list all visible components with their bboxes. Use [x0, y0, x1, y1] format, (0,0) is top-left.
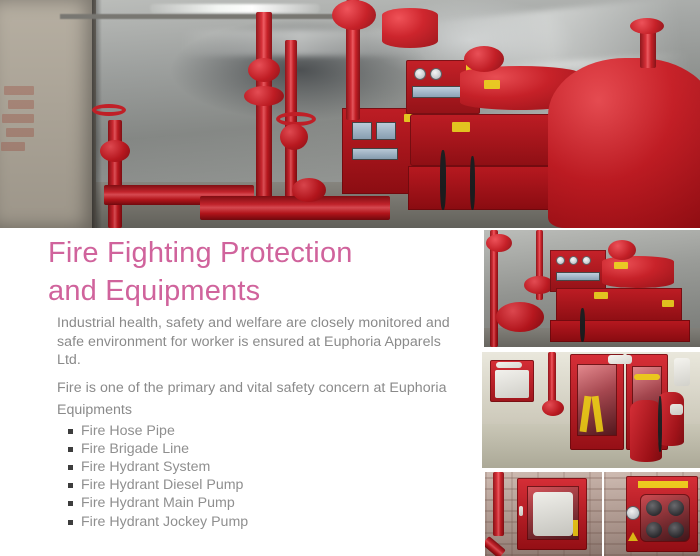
- engine-intake-cap: [464, 46, 504, 72]
- extinguisher-hose: [658, 396, 662, 452]
- cabinet-display: [376, 122, 396, 140]
- ceiling-conduit: [60, 14, 360, 19]
- engine-hose: [440, 150, 446, 210]
- pressure-gauge: [582, 256, 591, 265]
- red-vessel: [382, 8, 438, 48]
- pressure-gauge: [430, 68, 442, 80]
- equipments-heading: Equipments: [57, 401, 457, 420]
- warning-label: [484, 80, 500, 89]
- page-title: Fire Fighting Protection and Equipments: [48, 234, 468, 310]
- title-line-2: and Equipments: [48, 272, 468, 310]
- title-line-1: Fire Fighting Protection: [48, 234, 468, 272]
- wall-notice: [674, 358, 690, 386]
- warning-label: [452, 122, 470, 132]
- cabinet-display: [352, 122, 372, 140]
- body-copy: Industrial health, safety and welfare ar…: [57, 314, 457, 531]
- left-brick-wall: [0, 0, 96, 228]
- banner-scene: [0, 0, 700, 228]
- red-downpipe: [493, 472, 504, 536]
- fire-pump-room-banner-image: [0, 0, 700, 228]
- cabinet-sign: [608, 355, 632, 364]
- yellow-tool: [634, 374, 660, 380]
- red-valve-body: [542, 400, 564, 416]
- diesel-engine-block: [410, 114, 570, 166]
- red-flange: [244, 86, 284, 106]
- paragraph-industrial-health: Industrial health, safety and welfare ar…: [57, 314, 457, 370]
- cabinet-display: [352, 148, 398, 160]
- list-item: Fire Brigade Line: [57, 440, 457, 458]
- extinguisher-label: [670, 404, 683, 415]
- engine-base: [550, 320, 690, 342]
- list-item: Fire Hydrant Jockey Pump: [57, 513, 457, 531]
- fire-hose: [533, 492, 573, 536]
- pump-casing: [496, 302, 544, 332]
- cabinet-latch[interactable]: [519, 506, 523, 516]
- fire-equipment-cabinets-image: [482, 352, 700, 468]
- equipments-list: Fire Hose Pipe Fire Brigade Line Fire Hy…: [57, 422, 457, 531]
- inlet-connector: [668, 522, 684, 538]
- engine-intake-cap: [608, 240, 636, 260]
- inlet-connector: [668, 500, 684, 516]
- warning-label: [614, 262, 628, 269]
- red-fitting: [292, 178, 326, 202]
- valve-handwheel: [92, 104, 126, 116]
- list-item: Fire Hydrant System: [57, 458, 457, 476]
- paragraph-fire-concern: Fire is one of the primary and vital saf…: [57, 379, 457, 398]
- hose-reel: [495, 370, 529, 398]
- diesel-fire-pump-image: [484, 230, 700, 347]
- inlet-connector: [646, 522, 662, 538]
- slide-root: Fire Fighting Protection and Equipments …: [0, 0, 700, 556]
- fire-hose-cabinet-image: [485, 472, 602, 556]
- engine-hose: [470, 156, 475, 210]
- breeching-inlet-image: [604, 472, 700, 556]
- pressure-gauge: [569, 256, 578, 265]
- breeching-inlet-label: [638, 481, 688, 488]
- engine-hose: [580, 308, 585, 342]
- red-valve-body: [100, 140, 130, 162]
- pressure-gauge: [556, 256, 565, 265]
- panel-display: [556, 272, 600, 281]
- box-label: [496, 362, 522, 368]
- red-valve-body: [486, 234, 512, 252]
- list-item: Fire Hydrant Main Pump: [57, 494, 457, 512]
- pressure-tank: [548, 58, 700, 228]
- red-valve-body: [280, 124, 308, 150]
- red-pipe: [108, 120, 122, 228]
- red-header-pipe: [200, 196, 390, 220]
- tank-nozzle-cap: [630, 18, 664, 34]
- red-riser: [256, 12, 272, 208]
- nozzle-marker: [573, 520, 578, 536]
- inlet-plate: [626, 506, 640, 520]
- list-item: Fire Hydrant Diesel Pump: [57, 476, 457, 494]
- warning-label: [594, 292, 608, 299]
- red-valve-body: [248, 58, 280, 82]
- engine-air-filter: [602, 256, 674, 288]
- pressure-gauge: [414, 68, 426, 80]
- red-flange: [332, 0, 376, 30]
- ceiling-light: [150, 4, 320, 13]
- list-item: Fire Hose Pipe: [57, 422, 457, 440]
- warning-label: [662, 300, 674, 307]
- inlet-connector: [646, 500, 662, 516]
